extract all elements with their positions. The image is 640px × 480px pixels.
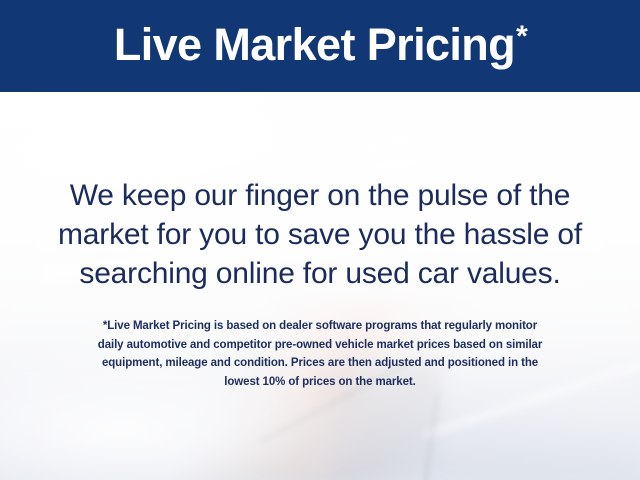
disclaimer-line-4: lowest 10% of prices on the market. (24, 373, 616, 392)
headline-line-1: We keep our finger on the pulse of the (20, 176, 620, 215)
headline-text: We keep our finger on the pulse of the m… (20, 176, 620, 293)
content-area: We keep our finger on the pulse of the m… (0, 92, 640, 480)
disclaimer-line-2: daily automotive and competitor pre-owne… (24, 336, 616, 355)
header-banner: Live Market Pricing* (0, 0, 640, 92)
live-market-pricing-graphic: Live Market Pricing* We keep our finger … (0, 0, 640, 480)
banner-title-text: Live Market Pricing (114, 19, 515, 70)
banner-title-asterisk: * (516, 20, 527, 53)
headline-line-3: searching online for used car values. (20, 254, 620, 293)
disclaimer-line-1: *Live Market Pricing is based on dealer … (24, 317, 616, 336)
banner-title: Live Market Pricing* (114, 22, 526, 67)
disclaimer-text: *Live Market Pricing is based on dealer … (24, 317, 616, 391)
disclaimer-line-3: equipment, mileage and condition. Prices… (24, 354, 616, 373)
headline-line-2: market for you to save you the hassle of (20, 215, 620, 254)
